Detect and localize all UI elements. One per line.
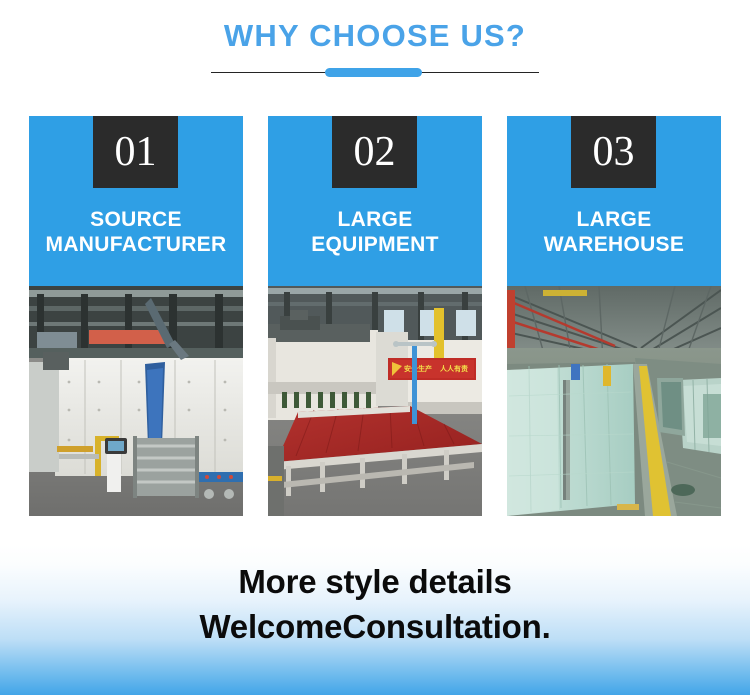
card-photo-3 [507,286,721,516]
svg-text:人人有责: 人人有责 [440,364,468,373]
feature-card-1[interactable]: 01 SOURCE MANUFACTURER [29,116,243,516]
feature-cards-row: 01 SOURCE MANUFACTURER [29,116,721,516]
card-header-3: 03 LARGE WAREHOUSE [507,116,721,286]
tempering-furnace-image: 安全生产 人人有责 [268,286,482,516]
header: WHY CHOOSE US? [0,18,750,80]
card-number-1: 01 [115,131,157,173]
footer-line-2: WelcomeConsultation. [0,605,750,650]
footer-headline: More style details WelcomeConsultation. [0,560,750,649]
card-photo-1 [29,286,243,516]
footer-line-1: More style details [0,560,750,605]
card-number-3: 03 [593,131,635,173]
card-header-2: 02 LARGE EQUIPMENT [268,116,482,286]
svg-text:安全生产: 安全生产 [404,364,432,373]
feature-card-2[interactable]: 02 LARGE EQUIPMENT [268,116,482,516]
card-title-2: LARGE EQUIPMENT [268,208,482,258]
card-number-badge-1: 01 [93,116,178,188]
card-header-1: 01 SOURCE MANUFACTURER [29,116,243,286]
card-photo-2: 安全生产 人人有责 [268,286,482,516]
title-divider [0,66,750,80]
feature-card-3[interactable]: 03 LARGE WAREHOUSE [507,116,721,516]
glass-warehouse-image [507,286,721,516]
factory-production-line-image [29,286,243,516]
card-number-2: 02 [354,131,396,173]
card-number-badge-2: 02 [332,116,417,188]
page-title: WHY CHOOSE US? [0,18,750,54]
divider-accent-bar [325,68,422,77]
card-title-1: SOURCE MANUFACTURER [29,208,243,258]
card-number-badge-3: 03 [571,116,656,188]
card-title-3: LARGE WAREHOUSE [507,208,721,258]
